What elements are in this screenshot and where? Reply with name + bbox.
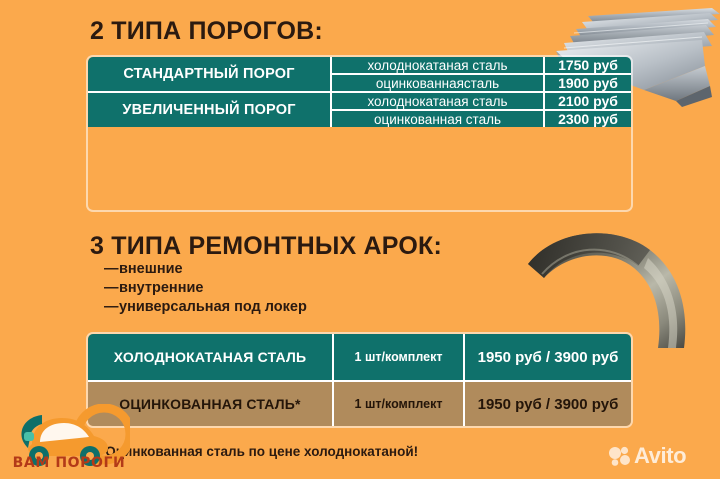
avito-dots-icon <box>608 445 630 467</box>
dash-bullet: — <box>104 260 119 279</box>
price-cell: 1900 руб <box>543 75 631 91</box>
table-sills: СТАНДАРТНЫЙ ПОРОГ холоднокатаная сталь 1… <box>88 57 631 210</box>
dash-bullet: — <box>104 298 119 317</box>
table-row: холоднокатаная сталь 1750 руб <box>330 57 631 73</box>
table-row-group: СТАНДАРТНЫЙ ПОРОГ холоднокатаная сталь 1… <box>88 57 631 91</box>
arch-types-list: —внешние —внутренние —универсальная под … <box>104 260 307 317</box>
wheel-arch-repair-part-photo <box>498 222 720 350</box>
table-row: холоднокатаная сталь 2100 руб <box>330 93 631 109</box>
list-item-label: универсальная под локер <box>119 299 307 315</box>
quantity-cell: 1 шт/комплект <box>332 382 463 426</box>
sill-type-label: УВЕЛИЧЕННЫЙ ПОРОГ <box>88 93 330 127</box>
price-cell: 1950 руб / 3900 руб <box>463 382 631 426</box>
quantity-cell: 1 шт/комплект <box>332 334 463 380</box>
material-cell: оцинкованная сталь <box>332 111 543 127</box>
material-cell: холоднокатаная сталь <box>332 93 543 109</box>
price-cell: 2300 руб <box>543 111 631 127</box>
price-cell: 1950 руб / 3900 руб <box>463 334 631 380</box>
table-row: ОЦИНКОВАННАЯ СТАЛЬ* 1 шт/комплект 1950 р… <box>88 380 631 426</box>
material-cell: оцинкованнаясталь <box>332 75 543 91</box>
dash-bullet: — <box>104 279 119 298</box>
heading-sills: 2 ТИПА ПОРОГОВ: <box>90 17 323 46</box>
list-item: —универсальная под локер <box>104 298 307 317</box>
list-item-label: внутренние <box>119 280 203 296</box>
material-cell: холоднокатаная сталь <box>332 57 543 73</box>
list-item: —внутренние <box>104 279 307 298</box>
price-cell: 2100 руб <box>543 93 631 109</box>
avito-watermark: Avito <box>608 443 686 469</box>
avito-wordmark: Avito <box>634 443 686 469</box>
material-cell: ХОЛОДНОКАТАНАЯ СТАЛЬ <box>88 334 332 380</box>
heading-arches: 3 ТИПА РЕМОНТНЫХ АРОК: <box>90 232 442 261</box>
list-item-label: внешние <box>119 261 183 277</box>
table-row: оцинкованная сталь 2300 руб <box>330 109 631 127</box>
table-row-group: УВЕЛИЧЕННЫЙ ПОРОГ холоднокатаная сталь 2… <box>88 91 631 127</box>
table-row: ХОЛОДНОКАТАНАЯ СТАЛЬ 1 шт/комплект 1950 … <box>88 334 631 380</box>
poster-canvas: 2 ТИПА ПОРОГОВ: СТАНДАРТНЫЙ ПОРОГ холодн… <box>0 0 720 479</box>
price-cell: 1750 руб <box>543 57 631 73</box>
footnote: *Оцинкованная сталь по цене холоднокатан… <box>100 444 418 459</box>
list-item: —внешние <box>104 260 307 279</box>
sill-type-label: СТАНДАРТНЫЙ ПОРОГ <box>88 57 330 91</box>
table-arches: ХОЛОДНОКАТАНАЯ СТАЛЬ 1 шт/комплект 1950 … <box>88 334 631 426</box>
table-row: оцинкованнаясталь 1900 руб <box>330 73 631 91</box>
logo-text: ВАМ ПОРОГИ <box>9 455 129 471</box>
